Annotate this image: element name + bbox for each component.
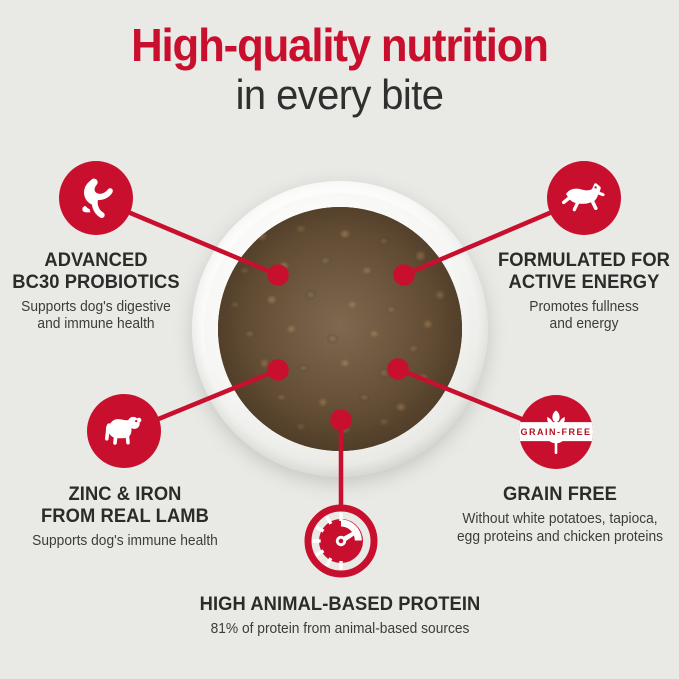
icon-badge-protein[interactable] — [304, 504, 378, 578]
food-bowl — [192, 181, 488, 477]
gauge-icon — [304, 504, 378, 578]
feature-subtitle-animal-protein: 81% of protein from animal-based sources — [149, 621, 531, 639]
stomach-icon — [71, 173, 121, 223]
feature-subtitle-zinc-iron-lamb: Supports dog's immune health — [16, 533, 235, 551]
icon-badge-grain-free[interactable]: GRAIN-FREE — [519, 395, 593, 469]
icon-badge-probiotics[interactable] — [59, 161, 133, 235]
icon-badge-lamb[interactable] — [87, 394, 161, 468]
grain-free-band: GRAIN-FREE — [519, 422, 593, 441]
feature-title-animal-protein: HIGH ANIMAL-BASED PROTEIN — [151, 594, 529, 616]
kibble-shading — [218, 207, 462, 451]
feature-zinc-iron-lamb: ZINC & IRON FROM REAL LAMB Supports dog'… — [10, 484, 240, 550]
feature-subtitle-probiotics: Supports dog's digestive and immune heal… — [7, 299, 186, 334]
grain-free-band-label: GRAIN-FREE — [521, 427, 592, 437]
feature-grain-free: GRAIN FREE Without white potatoes, tapio… — [442, 484, 678, 546]
feature-title-active-energy: FORMULATED FOR ACTIVE ENERGY — [496, 250, 673, 294]
lamb-icon — [97, 404, 151, 458]
infographic-canvas: High-quality nutrition in every bite — [0, 0, 679, 679]
title-line-secondary: in every bite — [17, 74, 662, 116]
feature-probiotics: ADVANCED BC30 PROBIOTICS Supports dog's … — [2, 250, 190, 334]
feature-title-probiotics: ADVANCED BC30 PROBIOTICS — [8, 250, 185, 294]
feature-title-grain-free: GRAIN FREE — [449, 484, 671, 506]
icon-badge-active-energy[interactable] — [547, 161, 621, 235]
title-line-primary: High-quality nutrition — [17, 22, 662, 68]
feature-subtitle-active-energy: Promotes fullness and energy — [495, 299, 674, 334]
feature-active-energy: FORMULATED FOR ACTIVE ENERGY Promotes fu… — [490, 250, 678, 334]
running-dog-icon — [557, 171, 611, 225]
feature-animal-protein: HIGH ANIMAL-BASED PROTEIN 81% of protein… — [139, 594, 541, 639]
feature-subtitle-grain-free: Without white potatoes, tapioca, egg pro… — [448, 511, 672, 546]
page-title: High-quality nutrition in every bite — [0, 22, 679, 116]
feature-title-zinc-iron-lamb: ZINC & IRON FROM REAL LAMB — [17, 484, 233, 528]
kibble-bed — [218, 207, 462, 451]
